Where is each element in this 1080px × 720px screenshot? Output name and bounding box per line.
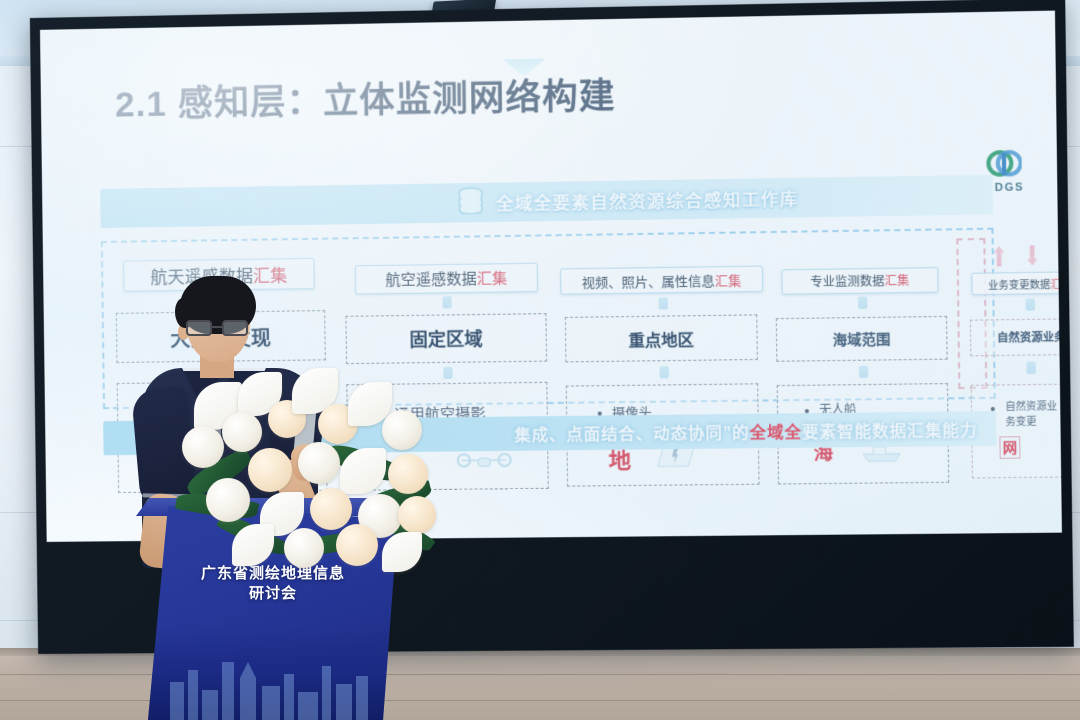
data-source-pill-2[interactable]: 视频、照片、属性信息汇集 [560, 266, 763, 295]
eyeglasses-icon [182, 320, 254, 337]
connector [442, 296, 451, 308]
rose-flower [310, 488, 352, 530]
flower-arrangement [176, 366, 444, 566]
drone-icon [456, 452, 513, 479]
scope-label-4: 自然资源业务 [971, 319, 1062, 355]
podium-backdrop-text: 广东省测绘地理信息 研讨会 [148, 564, 398, 604]
connector [443, 367, 452, 379]
bottom-banner-text: 集成、点面结合、动态协同”的全域全要素智能数据汇集能力 [514, 416, 977, 445]
connector [859, 366, 868, 378]
connector [1026, 298, 1036, 310]
business-column-group [956, 238, 987, 389]
scope-label-3: 海域范围 [777, 317, 947, 361]
scope-cell-2[interactable]: 重点地区 [565, 314, 758, 362]
domain-char-4: 网 [999, 436, 1020, 459]
data-source-pill-3[interactable]: 专业监测数据汇集 [781, 267, 938, 295]
database-stack-icon [455, 186, 486, 220]
connector [858, 297, 867, 309]
slide-title: 2.1 感知层：立体监测网络构建 [115, 67, 616, 127]
connector [659, 366, 668, 378]
top-banner-text: 全域全要素自然资源综合感知工作库 [496, 185, 799, 215]
connector [1026, 362, 1036, 374]
down-arrow-icon [1027, 245, 1038, 266]
connector [659, 297, 668, 309]
rose-flower [222, 412, 262, 452]
scope-cell-4[interactable]: 自然资源业务 [970, 318, 1062, 356]
scope-cell-3[interactable]: 海域范围 [776, 316, 948, 362]
scope-label-2: 重点地区 [566, 315, 757, 361]
rose-flower [206, 478, 250, 522]
rose-flower [182, 426, 224, 468]
rose-flower [388, 454, 428, 494]
up-arrow-icon [994, 246, 1005, 267]
rose-flower [382, 410, 422, 450]
data-source-pill-4[interactable]: 业务变更数据汇集 [971, 271, 1062, 295]
rose-flower [284, 528, 324, 568]
rose-flower [398, 496, 436, 534]
city-skyline-graphic [164, 648, 382, 720]
rose-flower [248, 448, 292, 492]
top-banner: 全域全要素自然资源综合感知工作库 [100, 175, 993, 228]
rose-flower [336, 524, 378, 566]
capability-bullets-4: 自然资源业 务变更 [989, 399, 1058, 430]
rose-flower [298, 442, 340, 484]
